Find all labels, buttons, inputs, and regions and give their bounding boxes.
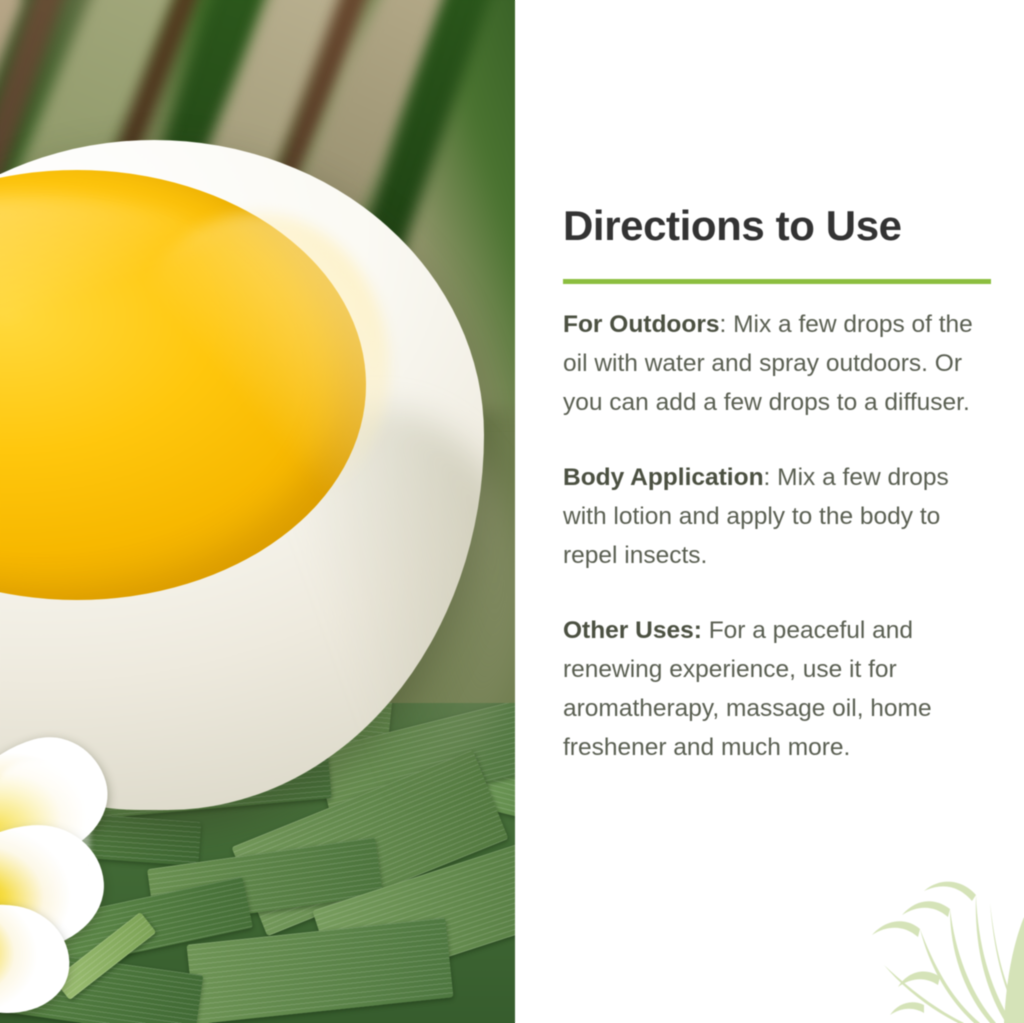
product-infographic-canvas: Directions to Use For Outdoors: Mix a fe… — [0, 0, 1024, 1023]
direction-label: Body Application — [563, 464, 764, 491]
product-photo — [0, 0, 515, 1023]
direction-item-for-outdoors: For Outdoors: Mix a few drops of the oil… — [563, 305, 987, 422]
directions-list: For Outdoors: Mix a few drops of the oil… — [563, 305, 987, 767]
direction-label: For Outdoors — [563, 311, 720, 338]
frangipani-petal-highlight — [0, 760, 90, 990]
direction-label: Other Uses: — [563, 617, 702, 644]
page-title: Directions to Use — [563, 202, 902, 250]
directions-panel: Directions to Use For Outdoors: Mix a fe… — [515, 0, 1024, 1023]
photo-stage — [0, 0, 515, 1023]
direction-item-body-application: Body Application: Mix a few drops with l… — [563, 458, 987, 575]
leaf-blade — [187, 918, 454, 1023]
title-underline-rule — [563, 279, 991, 284]
direction-item-other-uses: Other Uses: For a peaceful and renewing … — [563, 611, 987, 767]
lemongrass-grass-tuft-icon — [854, 873, 1024, 1023]
